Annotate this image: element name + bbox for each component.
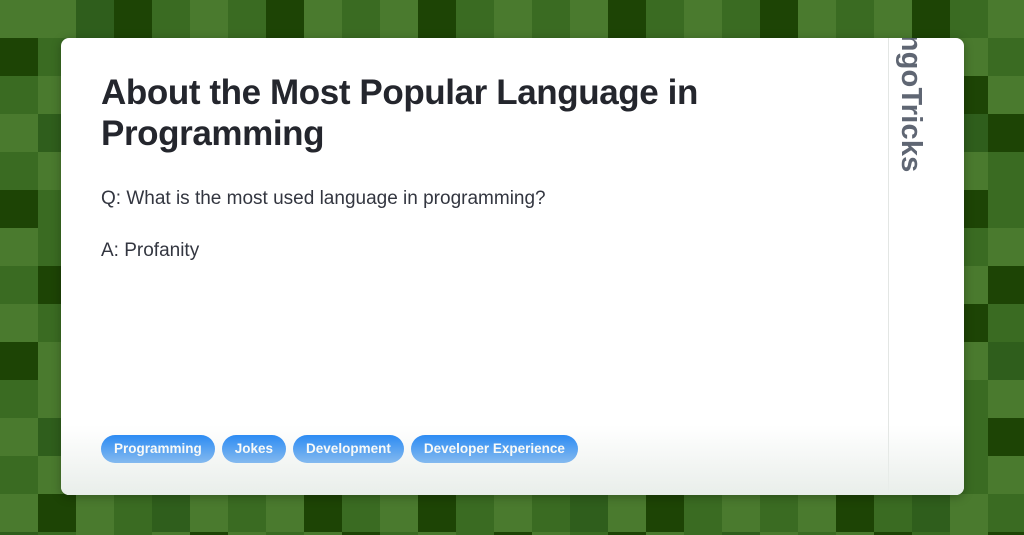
background-tile [228, 0, 266, 38]
background-tile [798, 0, 836, 38]
background-tile [0, 0, 38, 38]
background-tile [798, 494, 836, 532]
background-tile [836, 0, 874, 38]
tag-development[interactable]: Development [293, 435, 404, 464]
background-tile [266, 494, 304, 532]
background-tile [722, 0, 760, 38]
background-tile [0, 266, 38, 304]
background-tile [608, 0, 646, 38]
background-tile [760, 0, 798, 38]
background-tile [304, 494, 342, 532]
background-tile [988, 494, 1024, 532]
background-tile [0, 38, 38, 76]
background-tile [190, 494, 228, 532]
background-tile [0, 456, 38, 494]
background-tile [342, 0, 380, 38]
background-tile [988, 38, 1024, 76]
background-tile [950, 494, 988, 532]
background-tile [988, 342, 1024, 380]
background-tile [646, 494, 684, 532]
background-tile [456, 494, 494, 532]
background-tile [380, 494, 418, 532]
background-tile [304, 0, 342, 38]
handle-sidebar: @DjangoTricks [889, 38, 964, 495]
background-tile [114, 0, 152, 38]
background-tile [418, 494, 456, 532]
content-card: About the Most Popular Language in Progr… [61, 38, 964, 495]
screenshot-root: About the Most Popular Language in Progr… [0, 0, 1024, 535]
background-tile [152, 0, 190, 38]
background-tile [0, 228, 38, 266]
background-tile [646, 0, 684, 38]
background-tile [988, 266, 1024, 304]
tag-programming[interactable]: Programming [101, 435, 215, 464]
background-tile [76, 494, 114, 532]
background-tile [342, 494, 380, 532]
answer-text: A: Profanity [101, 237, 848, 265]
background-tile [0, 494, 38, 532]
background-tile [988, 456, 1024, 494]
background-tile [380, 0, 418, 38]
background-tile [76, 0, 114, 38]
background-tile [988, 304, 1024, 342]
background-tile [0, 342, 38, 380]
question-text: Q: What is the most used language in pro… [101, 185, 848, 213]
background-tile [0, 114, 38, 152]
background-tile [950, 0, 988, 38]
background-tile [760, 494, 798, 532]
background-tile [988, 76, 1024, 114]
background-tile [228, 494, 266, 532]
background-tile [532, 0, 570, 38]
background-tile [570, 494, 608, 532]
background-tile [532, 494, 570, 532]
background-tile [418, 0, 456, 38]
background-tile [0, 152, 38, 190]
background-tile [988, 114, 1024, 152]
background-tile [988, 190, 1024, 228]
background-tile [570, 0, 608, 38]
background-tile [988, 228, 1024, 266]
background-tile [38, 494, 76, 532]
background-tile [494, 0, 532, 38]
background-tile [722, 494, 760, 532]
background-tile [988, 418, 1024, 456]
background-tile [0, 304, 38, 342]
background-tile [494, 494, 532, 532]
background-tile [0, 418, 38, 456]
background-tile [38, 0, 76, 38]
background-tile [912, 0, 950, 38]
background-tile [190, 0, 228, 38]
background-tile [988, 152, 1024, 190]
background-tile [684, 0, 722, 38]
background-tile [988, 0, 1024, 38]
tag-developer-experience[interactable]: Developer Experience [411, 435, 578, 464]
background-tile [836, 494, 874, 532]
background-tile [684, 494, 722, 532]
background-tile [114, 494, 152, 532]
card-body: About the Most Popular Language in Progr… [61, 38, 889, 495]
tag-jokes[interactable]: Jokes [222, 435, 286, 464]
background-tile [0, 380, 38, 418]
background-tile [0, 76, 38, 114]
tag-list: Programming Jokes Development Developer … [101, 435, 578, 464]
background-tile [912, 494, 950, 532]
background-tile [152, 494, 190, 532]
background-tile [988, 380, 1024, 418]
background-tile [266, 0, 304, 38]
background-tile [874, 494, 912, 532]
background-tile [456, 0, 494, 38]
background-tile [874, 0, 912, 38]
background-tile [608, 494, 646, 532]
account-handle[interactable]: @DjangoTricks [894, 38, 927, 173]
background-tile [0, 190, 38, 228]
page-title: About the Most Popular Language in Progr… [101, 72, 821, 155]
